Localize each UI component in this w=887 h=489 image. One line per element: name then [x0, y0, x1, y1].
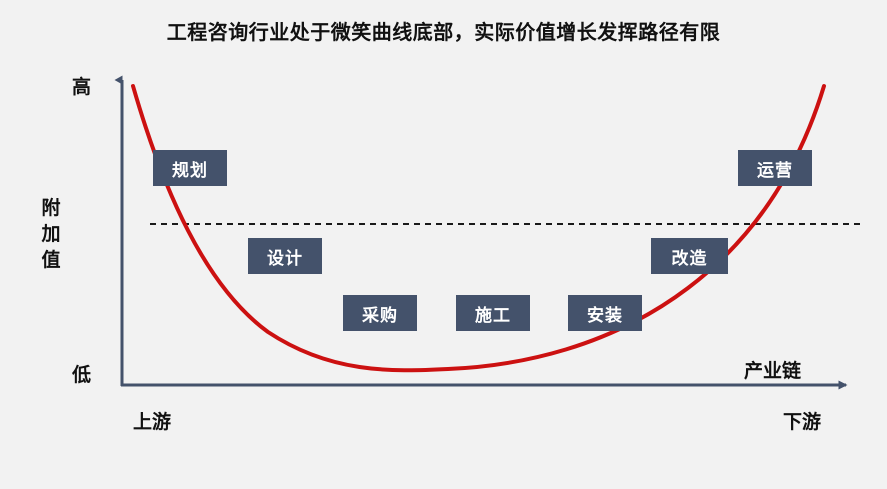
- y-axis-low-label: 低: [72, 366, 91, 387]
- stage-box-1[interactable]: 设计: [248, 238, 322, 274]
- stage-box-5[interactable]: 改造: [651, 238, 728, 274]
- x-axis-downstream-label: 下游: [783, 413, 821, 434]
- stage-box-0[interactable]: 规划: [153, 150, 227, 186]
- y-axis-high-label: 高: [72, 78, 91, 99]
- x-axis-title: 产业链: [744, 362, 801, 383]
- x-axis-upstream-label: 上游: [133, 413, 171, 434]
- chart-canvas: 工程咨询行业处于微笑曲线底部，实际价值增长发挥路径有限 高 低 附加值 产业链 …: [0, 0, 887, 489]
- y-axis-title: 附加值: [38, 196, 64, 274]
- stage-box-4[interactable]: 安装: [568, 295, 642, 331]
- stage-box-6[interactable]: 运营: [738, 150, 812, 186]
- stage-box-3[interactable]: 施工: [456, 295, 530, 331]
- stage-box-2[interactable]: 采购: [343, 295, 417, 331]
